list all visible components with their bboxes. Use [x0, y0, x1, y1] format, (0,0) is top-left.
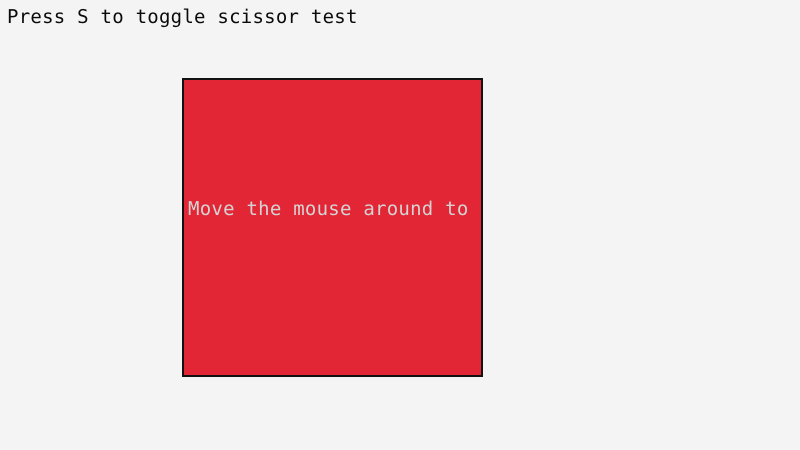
app-canvas: Press S to toggle scissor test Move the …: [0, 0, 800, 450]
scissor-clipped-message: Move the mouse around to r: [188, 198, 483, 220]
scissor-test-rectangle[interactable]: Move the mouse around to r: [182, 78, 483, 377]
scissor-toggle-hint-label: Press S to toggle scissor test: [7, 5, 358, 29]
